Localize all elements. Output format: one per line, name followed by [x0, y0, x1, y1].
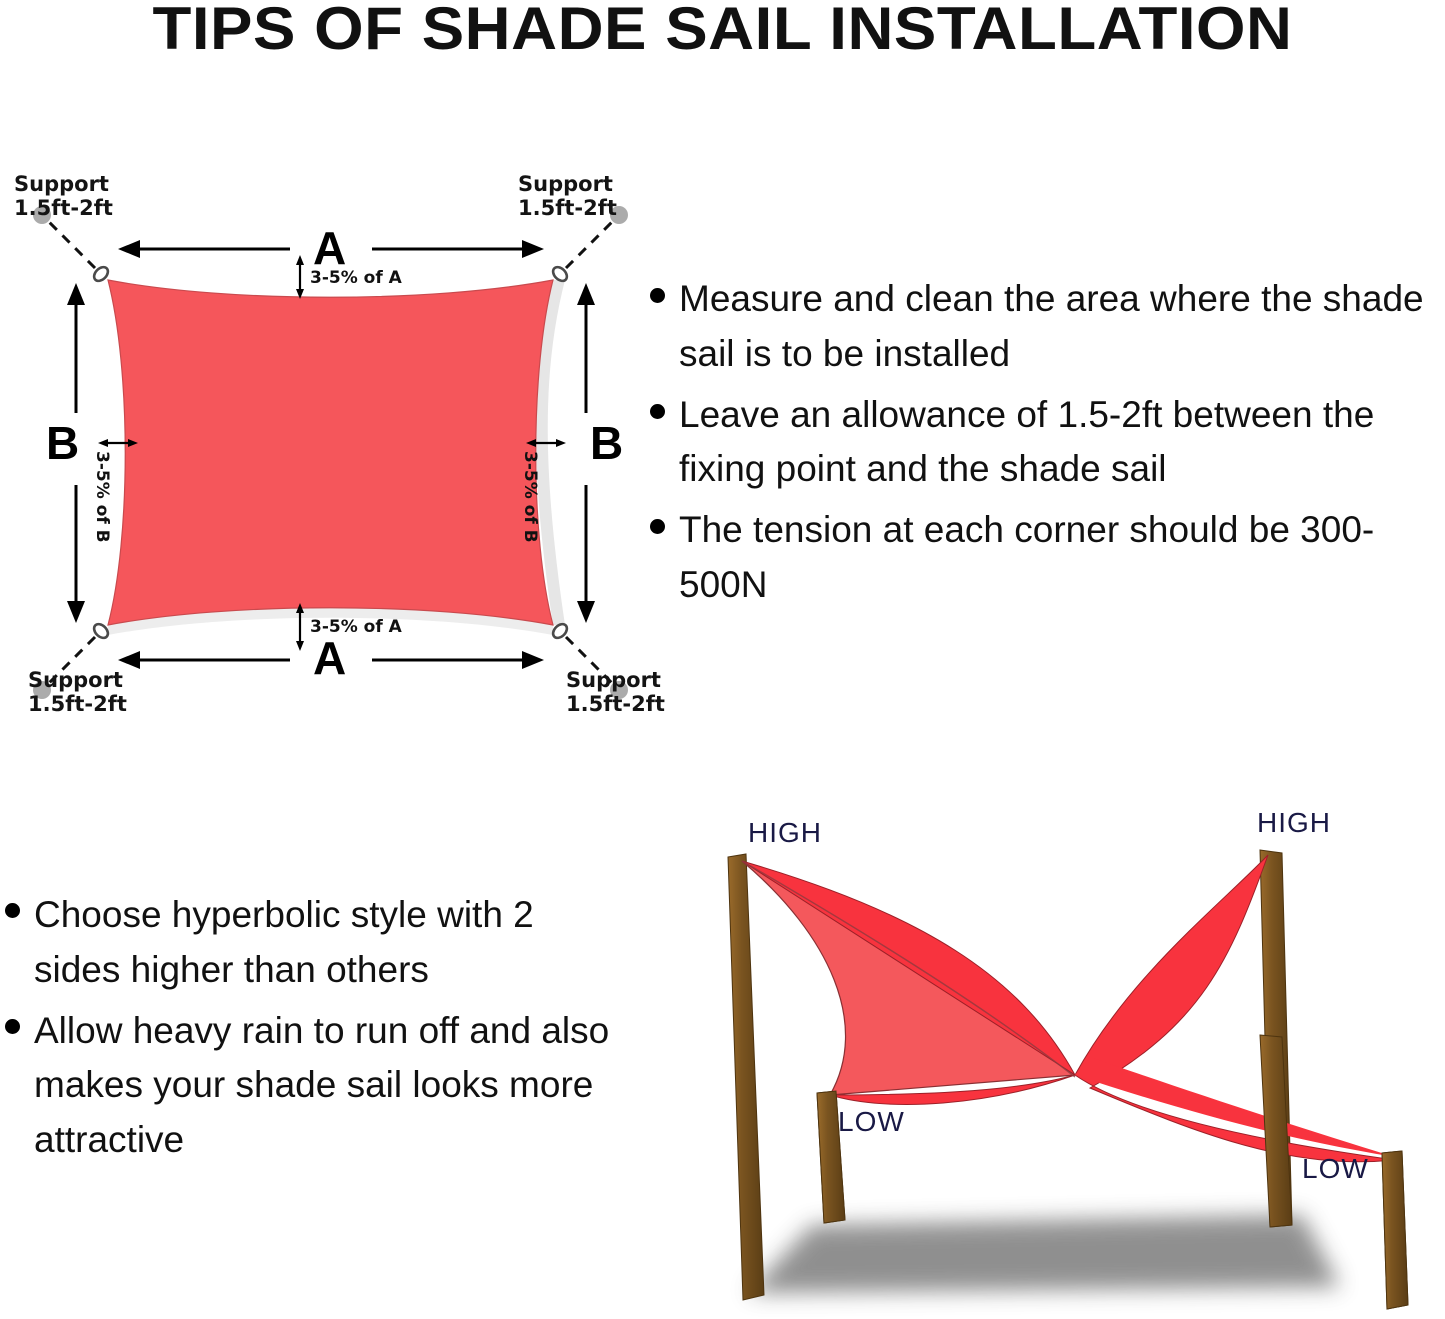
post-low-right-front: [1382, 1151, 1408, 1309]
arrowhead-b-right-top: [577, 283, 595, 305]
arrowhead-b-right-bottom: [577, 601, 595, 623]
bullet-dot-icon: [5, 1019, 20, 1034]
support-label-top-right: Support 1.5ft-2ft: [518, 173, 617, 220]
list-item: Allow heavy rain to run off and also mak…: [0, 1004, 630, 1168]
bullet-dot-icon: [650, 519, 665, 534]
support-label-top-left: Support 1.5ft-2ft: [14, 173, 113, 220]
dimension-letter-b-left: B: [46, 420, 79, 466]
list-item: Leave an allowance of 1.5-2ft between th…: [650, 388, 1445, 498]
curve-label-b-right: 3-5% of B: [520, 451, 540, 543]
support-label-line2: 1.5ft-2ft: [518, 197, 617, 221]
page-title: TIPS OF SHADE SAIL INSTALLATION: [0, 0, 1445, 62]
support-label-line1: Support: [14, 173, 113, 197]
list-item-text: The tension at each corner should be 300…: [679, 503, 1445, 613]
dimension-letter-b-right: B: [590, 420, 623, 466]
sail-left-panel: [742, 861, 1075, 1095]
arrowhead-a-top-right: [522, 240, 544, 258]
hyperbolic-sail-diagram: HIGH HIGH LOW LOW: [690, 795, 1445, 1319]
bullet-dot-icon: [650, 404, 665, 419]
support-label-line2: 1.5ft-2ft: [28, 693, 127, 717]
list-item-text: Leave an allowance of 1.5-2ft between th…: [679, 388, 1445, 498]
rectangular-sail-diagram: Support 1.5ft-2ft Support 1.5ft-2ft Supp…: [0, 155, 660, 735]
list-item-text: Choose hyperbolic style with 2 sides hig…: [34, 888, 630, 998]
arrowhead-sag-b-left-l: [98, 439, 108, 447]
arrowhead-b-left-top: [67, 283, 85, 305]
support-label-line1: Support: [28, 669, 127, 693]
list-item: Measure and clean the area where the sha…: [650, 272, 1445, 382]
support-label-line1: Support: [518, 173, 617, 197]
label-low-right: LOW: [1302, 1153, 1369, 1185]
list-item: The tension at each corner should be 300…: [650, 503, 1445, 613]
list-item: Choose hyperbolic style with 2 sides hig…: [0, 888, 630, 998]
label-low-left: LOW: [838, 1106, 905, 1138]
dimension-letter-a-bottom: A: [313, 635, 346, 681]
installation-tips-right-list: Measure and clean the area where the sha…: [650, 272, 1445, 619]
support-label-line2: 1.5ft-2ft: [14, 197, 113, 221]
arrowhead-a-bottom-left: [118, 651, 140, 669]
support-label-line2: 1.5ft-2ft: [566, 693, 665, 717]
dimension-letter-a-top: A: [313, 225, 346, 271]
arrowhead-b-left-bottom: [67, 601, 85, 623]
ground-shadow: [748, 1215, 1340, 1293]
bullet-dot-icon: [650, 288, 665, 303]
label-high-left: HIGH: [748, 817, 822, 849]
arrowhead-a-bottom-right: [522, 651, 544, 669]
shade-sail-shape: [108, 280, 553, 625]
support-label-bottom-right: Support 1.5ft-2ft: [566, 669, 665, 716]
installation-tips-left-list: Choose hyperbolic style with 2 sides hig…: [0, 888, 630, 1174]
arrowhead-sag-b-right-r: [556, 439, 566, 447]
arrowhead-sag-a-bottom-down: [296, 641, 304, 651]
bullet-dot-icon: [5, 903, 20, 918]
arrowhead-sag-a-top-up: [296, 255, 304, 265]
curve-label-a-bottom: 3-5% of A: [310, 617, 402, 637]
arrowhead-a-top-left: [118, 240, 140, 258]
support-label-bottom-left: Support 1.5ft-2ft: [28, 669, 127, 716]
curve-label-b-left: 3-5% of B: [92, 451, 112, 543]
curve-label-a-top: 3-5% of A: [310, 268, 402, 288]
support-label-line1: Support: [566, 669, 665, 693]
label-high-right: HIGH: [1257, 807, 1331, 839]
post-high-left: [728, 854, 764, 1300]
list-item-text: Measure and clean the area where the sha…: [679, 272, 1445, 382]
hyperbolic-sail-svg: [690, 795, 1445, 1319]
list-item-text: Allow heavy rain to run off and also mak…: [34, 1004, 630, 1168]
